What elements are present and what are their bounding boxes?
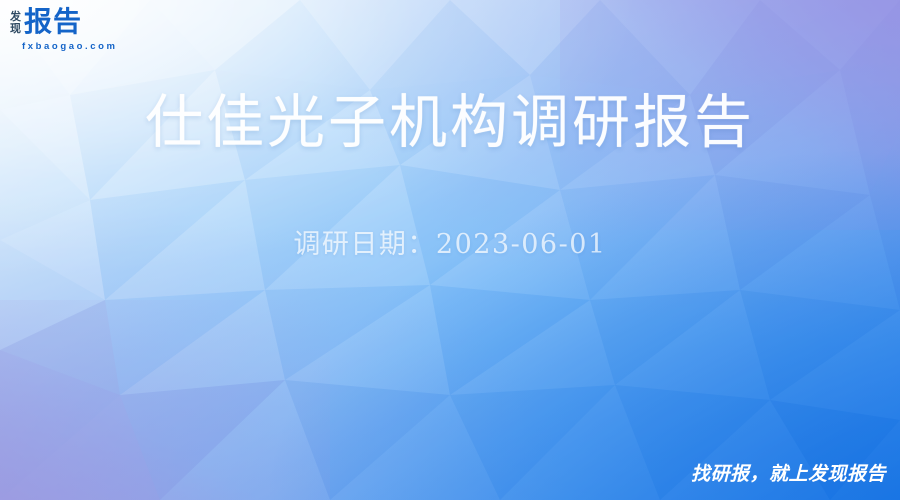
logo-url: fxbaogao.com [22,41,118,52]
logo-wordmark: 报告 [24,8,82,36]
page-title: 仕佳光子机构调研报告 [0,84,900,160]
headline-block: 仕佳光子机构调研报告 调研日期：2023-06-01 [0,84,900,262]
logo-char-bottom: 现 [10,23,21,35]
page-subtitle: 调研日期：2023-06-01 [0,228,900,262]
logo-char-top: 发 [10,11,21,23]
brand-logo[interactable]: 发 现 报告 fxbaogao.com [10,8,82,36]
logo-stacked-characters: 发 现 [10,8,21,35]
cover-slide: 发 现 报告 fxbaogao.com 仕佳光子机构调研报告 调研日期：2023… [0,0,900,500]
brand-tagline: 找研报，就上发现报告 [691,464,886,486]
logo-mark: 发 现 报告 [10,8,82,36]
